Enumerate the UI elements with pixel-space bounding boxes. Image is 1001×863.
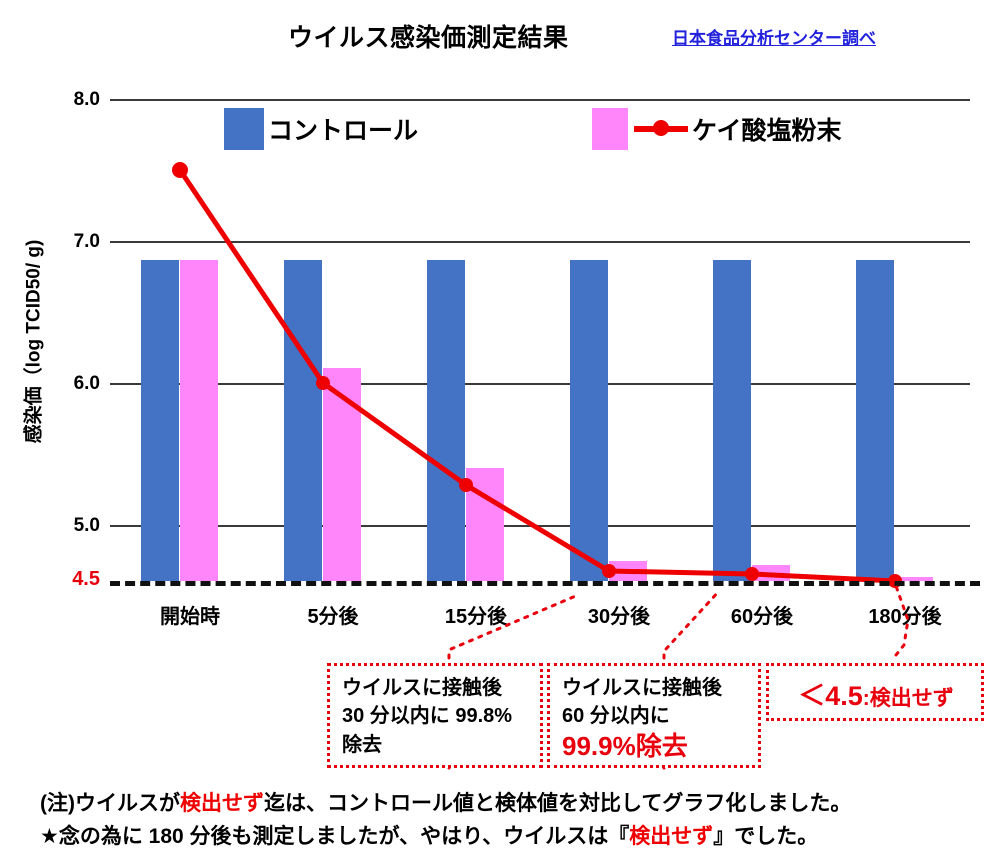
footnote-line-2: ★念の為に 180 分後も測定しましたが、やはり、ウイルスは『検出せず』でした。	[40, 821, 980, 854]
bar-control-0	[141, 260, 179, 581]
y-tick-6: 6.0	[48, 373, 100, 395]
footnote-2b: 』でした。	[713, 825, 818, 848]
bar-control-4	[713, 260, 751, 581]
footnote-line-1: (注)ウイルスが検出せず迄は、コントロール値と検体値を対比してグラフ化しました。	[40, 788, 980, 821]
x-tick-4: 60分後	[702, 600, 822, 629]
gridline-5	[110, 525, 970, 527]
bar-sample-2	[466, 468, 504, 581]
y-tick-8: 8.0	[48, 89, 100, 111]
callout-30min: ウイルスに接触後 30 分以内に 99.8% 除去	[327, 663, 543, 768]
legend-line-marker-icon	[634, 126, 688, 132]
bar-control-5	[856, 260, 894, 581]
footnote-2-highlight: 検出せず	[629, 825, 713, 848]
callout-60min-line-3: 99.9%除去	[562, 731, 748, 762]
callout-30min-line-3: 除去	[342, 731, 530, 759]
x-tick-1: 5分後	[273, 600, 393, 629]
bar-control-3	[570, 260, 608, 581]
footnote-1-highlight: 検出せず	[180, 792, 264, 815]
bar-sample-0	[180, 260, 218, 581]
callout-60min: ウイルスに接触後 60 分以内に 99.9%除去	[547, 663, 761, 768]
legend-item-control[interactable]: コントロール	[224, 108, 418, 150]
detection-limit-line	[110, 581, 980, 586]
callout-not-detected-text: ＜4.5:検出せず	[798, 674, 954, 713]
gridline-7	[110, 241, 970, 243]
bar-sample-3	[609, 561, 647, 581]
footnote-1b: 迄は、コントロール値と検体値を対比してグラフ化しました。	[264, 792, 851, 815]
y-axis-title: 感染価（log TCID50/ g)	[19, 212, 46, 472]
y-tick-5: 5.0	[48, 515, 100, 537]
footnote: (注)ウイルスが検出せず迄は、コントロール値と検体値を対比してグラフ化しました。…	[40, 788, 980, 853]
x-tick-5: 180分後	[845, 600, 965, 629]
y-tick-7: 7.0	[48, 231, 100, 253]
footnote-1a: (注)ウイルスが	[40, 792, 180, 815]
bar-control-1	[284, 260, 322, 581]
nd-suffix: :検出せず	[863, 687, 954, 710]
gridline-8	[110, 99, 970, 101]
callout-60min-line-2: 60 分以内に	[562, 702, 748, 730]
x-tick-2: 15分後	[416, 600, 536, 629]
sample-line-series	[110, 90, 970, 590]
chart-legend: コントロール ケイ酸塩粉末	[224, 108, 924, 154]
callout-30min-line-1: ウイルスに接触後	[342, 674, 530, 702]
callout-30min-line-2: 30 分以内に 99.8%	[342, 702, 530, 730]
nd-prefix: ＜4.5	[798, 681, 863, 711]
page-title: ウイルス感染価測定結果	[288, 18, 569, 54]
detection-limit-label: 4.5	[40, 568, 100, 591]
data-point-0	[172, 162, 188, 178]
legend-swatch-sample-icon	[592, 108, 628, 150]
gridline-6	[110, 383, 970, 385]
callout-60min-line-1: ウイルスに接触後	[562, 674, 748, 702]
plot-area	[110, 90, 970, 590]
bar-sample-1	[323, 368, 361, 581]
callout-not-detected: ＜4.5:検出せず	[766, 663, 984, 721]
legend-label-sample: ケイ酸塩粉末	[692, 111, 842, 147]
legend-swatch-control-icon	[224, 108, 264, 150]
x-tick-3: 30分後	[559, 600, 679, 629]
bar-control-2	[427, 260, 465, 581]
bar-sample-4	[752, 565, 790, 581]
legend-item-sample[interactable]: ケイ酸塩粉末	[592, 108, 842, 150]
x-tick-0: 開始時	[130, 600, 250, 629]
footnote-2a: ★念の為に 180 分後も測定しましたが、やはり、ウイルスは『	[40, 825, 629, 848]
legend-label-control: コントロール	[268, 111, 418, 147]
source-link[interactable]: 日本食品分析センター調べ	[672, 24, 876, 49]
